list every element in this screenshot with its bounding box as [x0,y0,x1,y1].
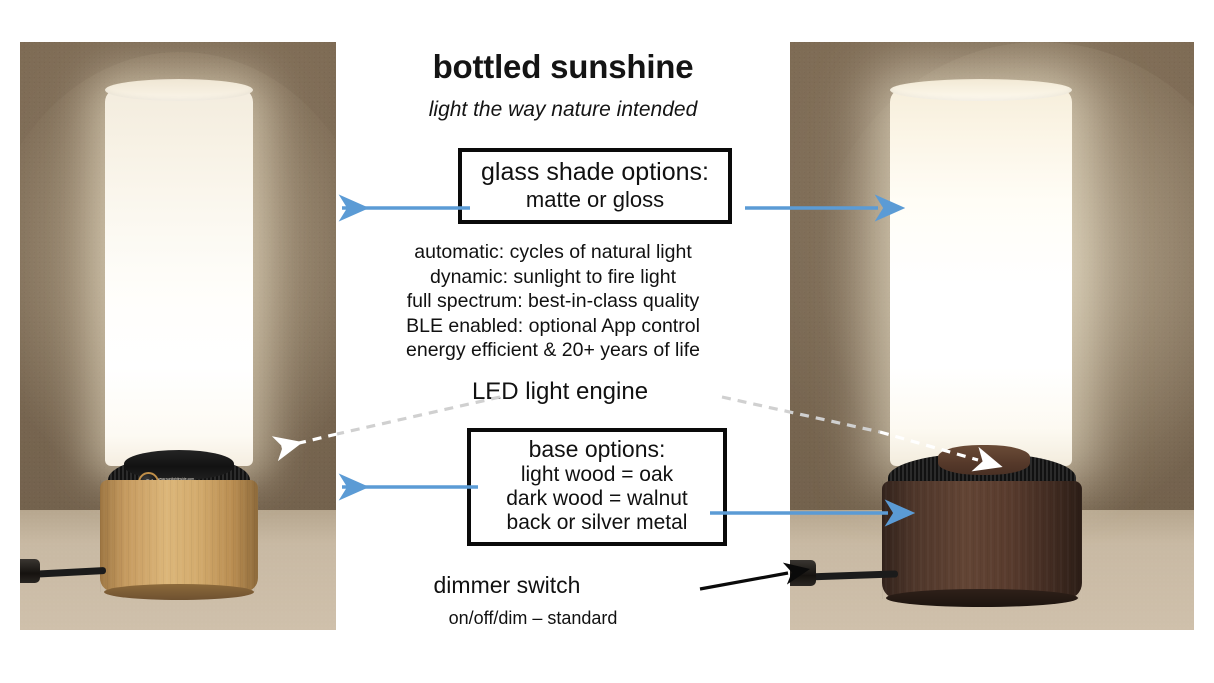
walnut-wood-cylinder [882,481,1082,599]
oak-grain-texture [100,480,258,592]
shade-top-rim-walnut [890,79,1072,101]
glass-shade-options: matte or gloss [470,187,720,213]
feature-item: energy efficient & 20+ years of life [316,338,790,363]
glass-shade-gloss [890,88,1072,466]
dimmer-switch-sublabel: on/off/dim – standard [336,608,730,629]
walnut-grain-texture [882,481,1082,599]
lamp-base-walnut [882,447,1082,605]
base-option-light-wood: light wood = oak [477,463,717,487]
oak-base-bottom-rim [104,584,254,600]
feature-item: full spectrum: best-in-class quality [316,289,790,314]
shade-top-rim-oak [105,79,253,101]
walnut-base-bottom-rim [886,589,1078,607]
dimmer-switch-module[interactable] [790,560,816,586]
base-option-metal: back or silver metal [477,511,717,535]
oak-wood-cylinder [100,480,258,592]
dimmer-switch-label: dimmer switch [336,572,678,599]
cord-plug-oak [20,559,40,583]
page-subtitle: light the way nature intended [336,98,790,122]
callout-base-options: base options: light wood = oak dark wood… [467,428,727,546]
feature-list: automatic: cycles of natural light dynam… [316,240,790,363]
feature-item: automatic: cycles of natural light [316,240,790,265]
base-options-heading: base options: [477,436,717,463]
feature-item: dynamic: sunlight to fire light [316,265,790,290]
feature-item: BLE enabled: optional App control [316,314,790,339]
page-title: bottled sunshine [336,48,790,86]
glass-shade-matte [105,88,253,466]
lamp-base-oak: Si www.sunlightinside.com [100,450,258,598]
base-option-dark-wood: dark wood = walnut [477,487,717,511]
product-photo-oak: Si www.sunlightinside.com [20,42,336,630]
led-light-engine-label: LED light engine [336,378,784,406]
infographic-canvas: Si www.sunlightinside.com [0,0,1214,683]
center-annotation-column: bottled sunshine light the way nature in… [336,0,790,683]
product-photo-walnut [790,42,1194,630]
callout-glass-shade-options: glass shade options: matte or gloss [458,148,732,224]
glass-shade-heading: glass shade options: [470,158,720,187]
led-engine-wood-plug [938,445,1030,475]
